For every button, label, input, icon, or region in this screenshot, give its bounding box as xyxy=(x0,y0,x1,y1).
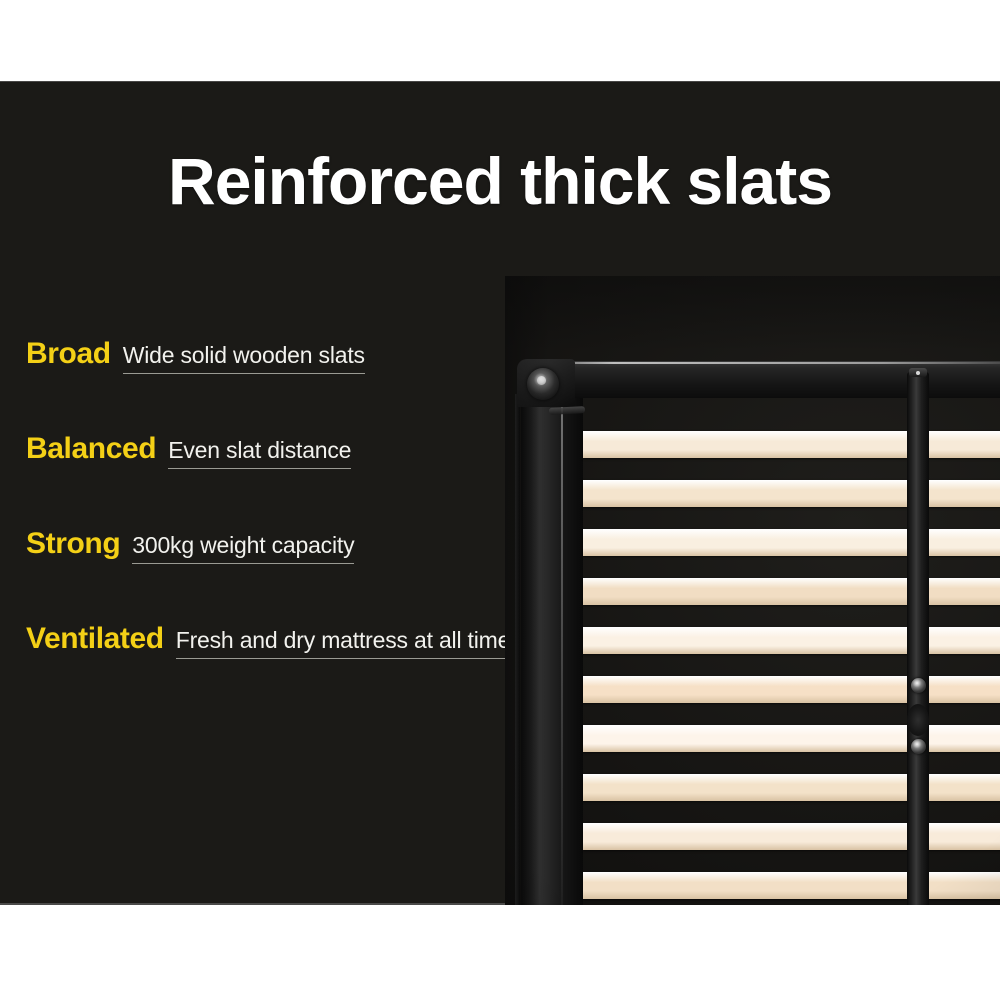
feature-value-underline-strong: 300kg weight capacity xyxy=(132,532,354,564)
wooden-slat xyxy=(925,872,1000,899)
wooden-slat xyxy=(583,627,911,654)
feature-item-broad: Broad Wide solid wooden slats xyxy=(26,337,586,374)
feature-value-broad: Wide solid wooden slats xyxy=(123,342,365,368)
center-beam-bolt-lower-icon xyxy=(911,739,926,754)
wooden-slat xyxy=(925,627,1000,654)
feature-key-ventilated: Ventilated xyxy=(26,622,164,656)
wooden-slat xyxy=(925,529,1000,556)
page-title: Reinforced thick slats xyxy=(0,143,1000,219)
wooden-slat xyxy=(925,480,1000,507)
center-beam-ring xyxy=(907,704,929,736)
product-feature-poster: Reinforced thick slats Broad Wide solid … xyxy=(0,0,1000,1000)
wooden-slat xyxy=(583,725,911,752)
wooden-slat xyxy=(925,774,1000,801)
wooden-slat xyxy=(925,823,1000,850)
wooden-slat xyxy=(925,676,1000,703)
wooden-slat xyxy=(583,480,911,507)
wooden-slat xyxy=(583,578,911,605)
feature-item-balanced: Balanced Even slat distance xyxy=(26,432,586,469)
feature-value-ventilated: Fresh and dry mattress at all times xyxy=(176,627,522,653)
feature-value-underline-broad: Wide solid wooden slats xyxy=(123,342,365,374)
poster-black-panel: Reinforced thick slats Broad Wide solid … xyxy=(0,81,1000,905)
feature-item-ventilated: Ventilated Fresh and dry mattress at all… xyxy=(26,622,586,659)
feature-value-underline-balanced: Even slat distance xyxy=(168,437,351,469)
center-support-beam xyxy=(907,372,929,905)
wooden-slat xyxy=(583,872,911,899)
feature-item-strong: Strong 300kg weight capacity xyxy=(26,527,586,564)
feature-value-strong: 300kg weight capacity xyxy=(132,532,354,558)
feature-value-balanced: Even slat distance xyxy=(168,437,351,463)
feature-key-broad: Broad xyxy=(26,337,111,371)
center-beam-cap xyxy=(909,368,927,377)
center-beam-bolt-upper-icon xyxy=(911,678,926,693)
feature-key-balanced: Balanced xyxy=(26,432,156,466)
wooden-slat xyxy=(583,431,911,458)
feature-list: Broad Wide solid wooden slats Balanced E… xyxy=(26,337,586,717)
feature-value-underline-ventilated: Fresh and dry mattress at all times xyxy=(176,627,522,659)
feature-key-strong: Strong xyxy=(26,527,120,561)
wooden-slat xyxy=(583,774,911,801)
wooden-slat xyxy=(925,431,1000,458)
wooden-slat xyxy=(583,529,911,556)
wooden-slat xyxy=(583,676,911,703)
wooden-slat xyxy=(583,823,911,850)
wooden-slat xyxy=(925,578,1000,605)
wooden-slat xyxy=(925,725,1000,752)
product-image-bed-slat-base xyxy=(505,276,1000,905)
panel-top-divider xyxy=(0,81,1000,82)
